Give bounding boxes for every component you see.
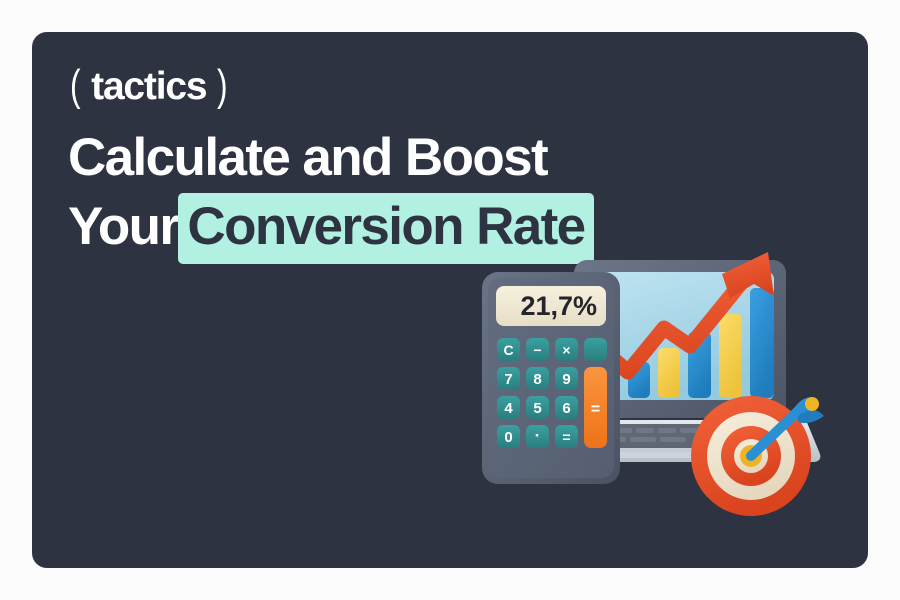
svg-text:6: 6 [562,400,570,417]
headline-line-2-plain: Your [68,197,178,256]
bracket-right-icon: ) [217,64,227,108]
svg-text:9: 9 [562,371,570,388]
target-dartboard-icon [691,396,824,516]
svg-text:=: = [591,401,600,418]
brand-name: tactics [91,67,206,106]
svg-text:×: × [562,342,570,358]
svg-text:C: C [503,342,513,358]
calculator-display-value: 21,7% [520,291,597,321]
svg-text:0: 0 [504,429,512,446]
conversion-rate-illustration: 21,7% C − × 7 [468,248,868,568]
poster-canvas: ( tactics ) Calculate and Boost YourConv… [0,0,900,600]
svg-text:−: − [533,342,541,358]
calculator-display: 21,7% [496,286,606,326]
headline-line-1: Calculate and Boost [68,127,708,189]
calculator-graphic[interactable]: 21,7% C − × 7 [482,272,620,484]
svg-text:8: 8 [533,371,541,388]
svg-text:·: · [535,426,541,445]
svg-text:4: 4 [504,400,513,417]
svg-text:=: = [562,429,570,445]
brand-logo[interactable]: ( tactics ) [68,64,229,108]
bracket-left-icon: ( [70,64,80,108]
svg-text:5: 5 [533,400,541,417]
key-blank[interactable] [584,338,607,361]
dark-card: ( tactics ) Calculate and Boost YourConv… [32,32,868,568]
page-title: Calculate and Boost YourConversion Rate [68,127,708,264]
svg-text:7: 7 [504,371,512,388]
